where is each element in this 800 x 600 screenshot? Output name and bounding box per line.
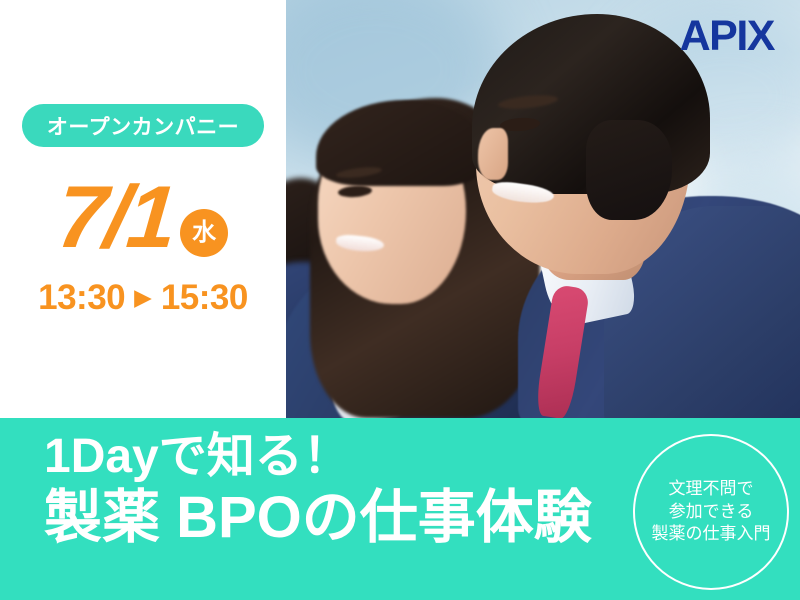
event-type-badge: オープンカンパニー bbox=[22, 104, 264, 147]
feature-badge-line-1: 文理不問で bbox=[669, 479, 754, 500]
feature-circle-badge: 文理不問で 参加できる 製薬の仕事入門 bbox=[633, 434, 789, 590]
headline-line-2: 製薬 BPOの仕事体験 bbox=[44, 487, 592, 548]
feature-badge-line-2: 参加できる bbox=[669, 502, 754, 523]
headline-line-1: 1Dayで知る！ bbox=[44, 432, 592, 483]
headline-block: 1Dayで知る！ 製薬 BPOの仕事体験 bbox=[44, 432, 592, 548]
time-arrow-icon: ▶ bbox=[134, 286, 152, 309]
feature-badge-line-3: 製薬の仕事入門 bbox=[652, 524, 771, 545]
day-of-week-label: 水 bbox=[192, 221, 216, 245]
apix-logo[interactable]: APIX bbox=[654, 14, 774, 58]
person-man-sideburn bbox=[586, 120, 672, 220]
event-end-time: 15:30 bbox=[161, 280, 248, 315]
person-man-nose bbox=[478, 128, 508, 180]
event-info-panel: オープンカンパニー 7/1 水 13:30 ▶ 15:30 bbox=[0, 0, 286, 418]
event-time-row: 13:30 ▶ 15:30 bbox=[0, 276, 286, 318]
event-date-row: 7/1 水 bbox=[0, 163, 286, 271]
event-type-badge-label: オープンカンパニー bbox=[47, 111, 239, 141]
day-of-week-badge: 水 bbox=[180, 209, 228, 257]
hero-photo bbox=[286, 0, 800, 418]
event-start-time: 13:30 bbox=[38, 280, 125, 315]
event-banner: APIX オープンカンパニー 7/1 水 13:30 ▶ 15:30 1Dayで… bbox=[0, 0, 800, 600]
event-date: 7/1 bbox=[54, 173, 178, 261]
